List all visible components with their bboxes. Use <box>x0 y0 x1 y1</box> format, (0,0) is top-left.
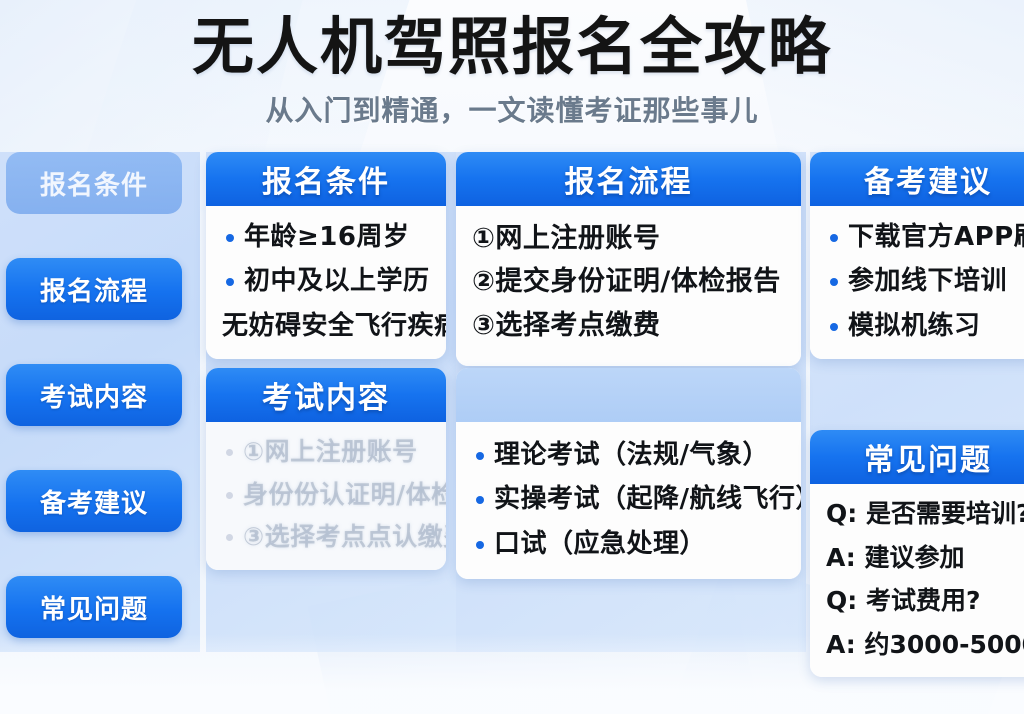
list-item: 实操考试（起降/航线飞行） <box>472 482 785 516</box>
sidebar-item-conditions[interactable]: 报名条件 <box>6 152 182 214</box>
faq-answer: A: 约3000-5000元 <box>826 629 1024 662</box>
card-title: 考试内容 <box>262 373 390 417</box>
sidebar-item-process[interactable]: 报名流程 <box>6 258 182 320</box>
bullet-icon <box>476 452 484 460</box>
card-body: Q: 是否需要培训? A: 建议参加 Q: 考试费用? A: 约3000-500… <box>810 484 1024 677</box>
card-title: 报名条件 <box>262 157 390 201</box>
list-item: 参加线下培训 <box>826 264 1024 298</box>
card-body: ①网上注册账号 身份份认证明/体检报 ③选择考点点认缴费 <box>206 422 446 570</box>
infographic-canvas: 无人机驾照报名全攻略 从入门到精通，一文读懂考证那些事儿 报名条件 报名流程 考… <box>0 0 1024 714</box>
card-exam-content-ghost[interactable]: 考试内容 ①网上注册账号 身份份认证明/体检报 ③选择考点点认缴费 <box>206 368 446 570</box>
bullet-icon <box>226 278 234 286</box>
list-item: ②提交身份证明/体检报告 <box>472 263 785 300</box>
sidebar-item-faq[interactable]: 常见问题 <box>6 576 182 638</box>
list-item: 下载官方APP刷题 <box>826 220 1024 254</box>
list-item-text: 年龄≥16周岁 <box>244 220 409 254</box>
bullet-icon <box>226 534 233 541</box>
list-item-text: 初中及以上学历 <box>244 264 430 298</box>
list-item: ③选择考点点认缴费 <box>222 521 430 554</box>
list-item-text: ①网上注册账号 <box>243 436 418 469</box>
list-item: 身份份认证明/体检报 <box>222 479 430 512</box>
list-item-overflow: 无妨碍安全飞行疾病 <box>222 309 430 343</box>
list-item: 初中及以上学历 <box>222 264 430 298</box>
card-body: 理论考试（法规/气象） 实操考试（起降/航线飞行） 口试（应急处理） <box>456 422 801 579</box>
card-body: 年龄≥16周岁 初中及以上学历 无妨碍安全飞行疾病 <box>206 206 446 359</box>
card-header: 考试内容 <box>206 368 446 422</box>
list-item: ③选择考点缴费 <box>472 307 785 344</box>
sidebar-item-exam-content[interactable]: 考试内容 <box>6 364 182 426</box>
sidebar-item-label: 报名条件 <box>40 165 148 202</box>
bullet-icon <box>830 323 838 331</box>
bullet-icon <box>226 234 234 242</box>
sidebar-nav: 报名条件 报名流程 考试内容 备考建议 常见问题 <box>6 152 188 682</box>
bullet-icon <box>476 496 484 504</box>
sidebar-item-label: 常见问题 <box>40 589 148 626</box>
list-item: ①网上注册账号 <box>222 436 430 469</box>
faq-answer: A: 建议参加 <box>826 542 1024 575</box>
sidebar-item-label: 备考建议 <box>40 483 148 520</box>
sidebar-item-prep[interactable]: 备考建议 <box>6 470 182 532</box>
card-faq[interactable]: 常见问题 Q: 是否需要培训? A: 建议参加 Q: 考试费用? A: 约300… <box>810 430 1024 677</box>
card-header: 常见问题 <box>810 430 1024 484</box>
bullet-icon <box>226 492 233 499</box>
sidebar-item-label: 考试内容 <box>40 377 148 414</box>
bullet-icon <box>830 234 838 242</box>
card-title: 常见问题 <box>864 435 992 479</box>
list-item: 理论考试（法规/气象） <box>472 438 785 472</box>
list-item-text: 模拟机练习 <box>848 309 981 343</box>
card-process[interactable]: 报名流程 ①网上注册账号 ②提交身份证明/体检报告 ③选择考点缴费 <box>456 152 801 366</box>
card-header: 报名条件 <box>206 152 446 206</box>
page-title: 无人机驾照报名全攻略 <box>0 0 1024 81</box>
card-exam-content[interactable]: 理论考试（法规/气象） 实操考试（起降/航线飞行） 口试（应急处理） <box>456 368 801 579</box>
list-item-text: 参加线下培训 <box>848 264 1007 298</box>
sidebar-item-label: 报名流程 <box>40 271 148 308</box>
card-header: 报名流程 <box>456 152 801 206</box>
card-body: 下载官方APP刷题 参加线下培训 模拟机练习 <box>810 206 1024 359</box>
list-item-text: ③选择考点点认缴费 <box>243 521 446 554</box>
list-item-text: 理论考试（法规/气象） <box>494 438 769 472</box>
card-conditions[interactable]: 报名条件 年龄≥16周岁 初中及以上学历 无妨碍安全飞行疾病 <box>206 152 446 359</box>
card-prep[interactable]: 备考建议 下载官方APP刷题 参加线下培训 模拟机练习 <box>810 152 1024 359</box>
list-item: 年龄≥16周岁 <box>222 220 430 254</box>
list-item: ①网上注册账号 <box>472 220 785 257</box>
bullet-icon <box>226 449 233 456</box>
card-title: 报名流程 <box>565 157 693 201</box>
list-item: 口试（应急处理） <box>472 527 785 561</box>
page-header: 无人机驾照报名全攻略 从入门到精通，一文读懂考证那些事儿 <box>0 0 1024 150</box>
faq-question: Q: 是否需要培训? <box>826 498 1024 531</box>
list-item-text: 下载官方APP刷题 <box>848 220 1024 254</box>
list-item-text: 实操考试（起降/航线飞行） <box>494 482 801 516</box>
card-header <box>456 368 801 422</box>
list-item-text: 身份份认证明/体检报 <box>243 479 446 512</box>
card-body: ①网上注册账号 ②提交身份证明/体检报告 ③选择考点缴费 <box>456 206 801 366</box>
faq-question: Q: 考试费用? <box>826 585 1024 618</box>
page-subtitle: 从入门到精通，一文读懂考证那些事儿 <box>0 89 1024 129</box>
list-item-text: 口试（应急处理） <box>494 527 706 561</box>
card-header: 备考建议 <box>810 152 1024 206</box>
bullet-icon <box>476 541 484 549</box>
card-title: 备考建议 <box>864 157 992 201</box>
bullet-icon <box>830 278 838 286</box>
list-item: 模拟机练习 <box>826 309 1024 343</box>
